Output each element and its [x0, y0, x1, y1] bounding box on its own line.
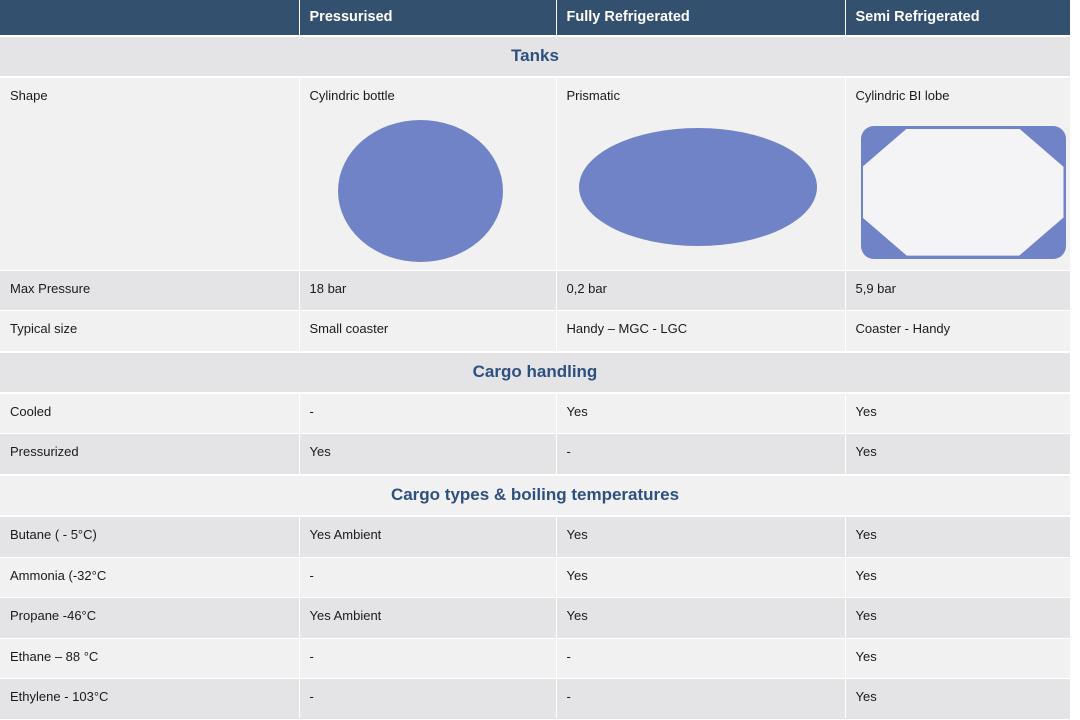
cell-text: Yes — [567, 527, 835, 543]
cell-text: 18 bar — [310, 281, 546, 297]
table-row: Ethane – 88 °C--Yes — [0, 638, 1070, 679]
cell-ammonia-32-c-pressurised: - — [299, 557, 556, 598]
section-band-row: Tanks — [0, 36, 1070, 77]
column-header-semi-refrigerated: Semi Refrigerated — [845, 0, 1070, 36]
section-band-row: Cargo handling — [0, 352, 1070, 393]
cell-text: Cylindric bottle — [310, 88, 546, 104]
cell-typical-size-semi-refrigerated: Coaster - Handy — [845, 311, 1070, 352]
cell-text: - — [310, 568, 546, 584]
cell-ammonia-32-c-fully-refrigerated: Yes — [556, 557, 845, 598]
table-header-row: Pressurised Fully Refrigerated Semi Refr… — [0, 0, 1070, 36]
cell-shape-pressurised: Cylindric bottle — [299, 77, 556, 270]
table-row: Ammonia (-32°C-YesYes — [0, 557, 1070, 598]
cell-propane-46-c-semi-refrigerated: Yes — [845, 598, 1070, 639]
cell-text: - — [310, 689, 546, 705]
row-label-typical-size: Typical size — [0, 311, 299, 352]
cell-text: Yes — [567, 568, 835, 584]
cell-text: 0,2 bar — [567, 281, 835, 297]
cell-shape-fully-refrigerated: Prismatic — [556, 77, 845, 270]
cell-ethane-88-c-semi-refrigerated: Yes — [845, 638, 1070, 679]
cylindric-bilobe-shape-icon — [861, 126, 1066, 259]
cell-typical-size-fully-refrigerated: Handy – MGC - LGC — [556, 311, 845, 352]
cell-text: Yes — [856, 689, 1061, 705]
cell-shape-semi-refrigerated: Cylindric BI lobe — [845, 77, 1070, 270]
prismatic-shape-icon — [579, 128, 817, 246]
column-header-pressurised: Pressurised — [299, 0, 556, 36]
cell-text: Cylindric BI lobe — [856, 88, 1061, 104]
cell-text: Yes — [856, 608, 1061, 624]
row-label-shape: Shape — [0, 77, 299, 270]
cell-ammonia-32-c-semi-refrigerated: Yes — [845, 557, 1070, 598]
cell-text: 5,9 bar — [856, 281, 1061, 297]
cell-text: - — [567, 649, 835, 665]
section-title-tanks: Tanks — [0, 36, 1070, 77]
table-body: TanksShapeCylindric bottlePrismaticCylin… — [0, 36, 1070, 719]
cell-text: Prismatic — [567, 88, 835, 104]
cell-ethylene-103-c-fully-refrigerated: - — [556, 679, 845, 720]
cell-text: Yes — [567, 404, 835, 420]
table-row: PressurizedYes-Yes — [0, 434, 1070, 475]
cell-text: - — [567, 444, 835, 460]
cell-typical-size-pressurised: Small coaster — [299, 311, 556, 352]
section-band-row: Cargo types & boiling temperatures — [0, 475, 1070, 516]
row-label-butane-5-c: Butane ( - 5°C) — [0, 516, 299, 557]
cell-cooled-fully-refrigerated: Yes — [556, 393, 845, 434]
cell-text: Yes — [856, 649, 1061, 665]
cell-text: Yes — [310, 444, 546, 460]
cell-pressurized-pressurised: Yes — [299, 434, 556, 475]
cell-butane-5-c-semi-refrigerated: Yes — [845, 516, 1070, 557]
table-row: Ethylene - 103°C--Yes — [0, 679, 1070, 720]
cell-cooled-pressurised: - — [299, 393, 556, 434]
cell-max-pressure-fully-refrigerated: 0,2 bar — [556, 270, 845, 311]
bilobe-inner-octagon — [863, 129, 1064, 256]
table-row: Butane ( - 5°C)Yes AmbientYesYes — [0, 516, 1070, 557]
section-title-cargo-types-boiling-temperatures: Cargo types & boiling temperatures — [0, 475, 1070, 516]
cell-text: Yes — [567, 608, 835, 624]
table-row: Propane -46°CYes AmbientYesYes — [0, 598, 1070, 639]
shape-area — [856, 108, 1061, 260]
cell-text: Yes Ambient — [310, 608, 546, 624]
cell-max-pressure-semi-refrigerated: 5,9 bar — [845, 270, 1070, 311]
cell-cooled-semi-refrigerated: Yes — [845, 393, 1070, 434]
shape-area — [567, 108, 835, 260]
cell-text: Yes Ambient — [310, 527, 546, 543]
cell-ethylene-103-c-semi-refrigerated: Yes — [845, 679, 1070, 720]
gas-carrier-comparison-table: Pressurised Fully Refrigerated Semi Refr… — [0, 0, 1070, 720]
cell-butane-5-c-fully-refrigerated: Yes — [556, 516, 845, 557]
cell-text: Yes — [856, 404, 1061, 420]
row-label-max-pressure: Max Pressure — [0, 270, 299, 311]
table-row: Max Pressure18 bar0,2 bar5,9 bar — [0, 270, 1070, 311]
table-row: ShapeCylindric bottlePrismaticCylindric … — [0, 77, 1070, 270]
cell-text: Yes — [856, 444, 1061, 460]
cell-ethane-88-c-pressurised: - — [299, 638, 556, 679]
cell-text: - — [310, 404, 546, 420]
cell-max-pressure-pressurised: 18 bar — [299, 270, 556, 311]
column-header-blank — [0, 0, 299, 36]
row-label-ammonia-32-c: Ammonia (-32°C — [0, 557, 299, 598]
cell-pressurized-semi-refrigerated: Yes — [845, 434, 1070, 475]
cylindric-bottle-shape-icon — [338, 120, 503, 262]
table-row: Cooled-YesYes — [0, 393, 1070, 434]
cell-text: - — [567, 689, 835, 705]
cell-text: Yes — [856, 527, 1061, 543]
section-title-cargo-handling: Cargo handling — [0, 352, 1070, 393]
cell-text: - — [310, 649, 546, 665]
cell-ethylene-103-c-pressurised: - — [299, 679, 556, 720]
cell-text: Small coaster — [310, 321, 546, 337]
row-label-ethylene-103-c: Ethylene - 103°C — [0, 679, 299, 720]
table-row: Typical sizeSmall coasterHandy – MGC - L… — [0, 311, 1070, 352]
cell-butane-5-c-pressurised: Yes Ambient — [299, 516, 556, 557]
cell-text: Yes — [856, 568, 1061, 584]
row-label-ethane-88-c: Ethane – 88 °C — [0, 638, 299, 679]
table-header: Pressurised Fully Refrigerated Semi Refr… — [0, 0, 1070, 36]
row-label-cooled: Cooled — [0, 393, 299, 434]
cell-text: Handy – MGC - LGC — [567, 321, 835, 337]
row-label-pressurized: Pressurized — [0, 434, 299, 475]
column-header-fully-refrigerated: Fully Refrigerated — [556, 0, 845, 36]
cell-propane-46-c-pressurised: Yes Ambient — [299, 598, 556, 639]
cell-propane-46-c-fully-refrigerated: Yes — [556, 598, 845, 639]
cell-pressurized-fully-refrigerated: - — [556, 434, 845, 475]
comparison-table-container: Pressurised Fully Refrigerated Semi Refr… — [0, 0, 1080, 671]
row-label-propane-46-c: Propane -46°C — [0, 598, 299, 639]
cell-ethane-88-c-fully-refrigerated: - — [556, 638, 845, 679]
cell-text: Coaster - Handy — [856, 321, 1061, 337]
shape-area — [310, 108, 546, 260]
